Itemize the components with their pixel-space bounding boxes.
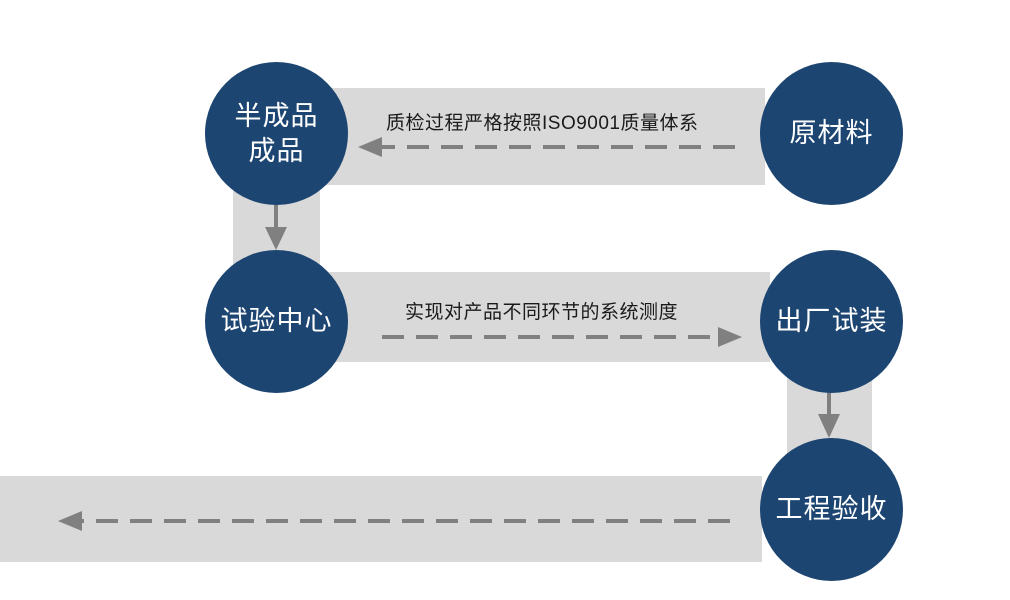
connector-label-test-to-factory: 实现对产品不同环节的系统测度 (405, 297, 678, 324)
node-semi-finished-finished[interactable]: 半成品 成品 (205, 62, 348, 205)
node-label-line1: 原材料 (790, 116, 874, 151)
node-label-line1: 工程验收 (776, 492, 888, 527)
node-project-acceptance[interactable]: 工程验收 (760, 438, 903, 581)
connector-label-raw-to-semi: 质检过程严格按照ISO9001质量体系 (386, 108, 699, 135)
node-factory-trial-assembly[interactable]: 出厂试装 (760, 250, 903, 393)
node-label-line1: 半成品 (235, 99, 319, 134)
node-label-line1: 试验中心 (221, 304, 333, 339)
node-raw-material[interactable]: 原材料 (760, 62, 903, 205)
node-label-line2: 成品 (249, 134, 305, 169)
node-test-center[interactable]: 试验中心 (205, 250, 348, 393)
node-label-line1: 出厂试装 (776, 304, 888, 339)
diagram-canvas: 质检过程严格按照ISO9001质量体系 实现对产品不同环节的系统测度 半成品 成… (0, 0, 1010, 600)
band-bottom-horizontal (0, 476, 762, 562)
